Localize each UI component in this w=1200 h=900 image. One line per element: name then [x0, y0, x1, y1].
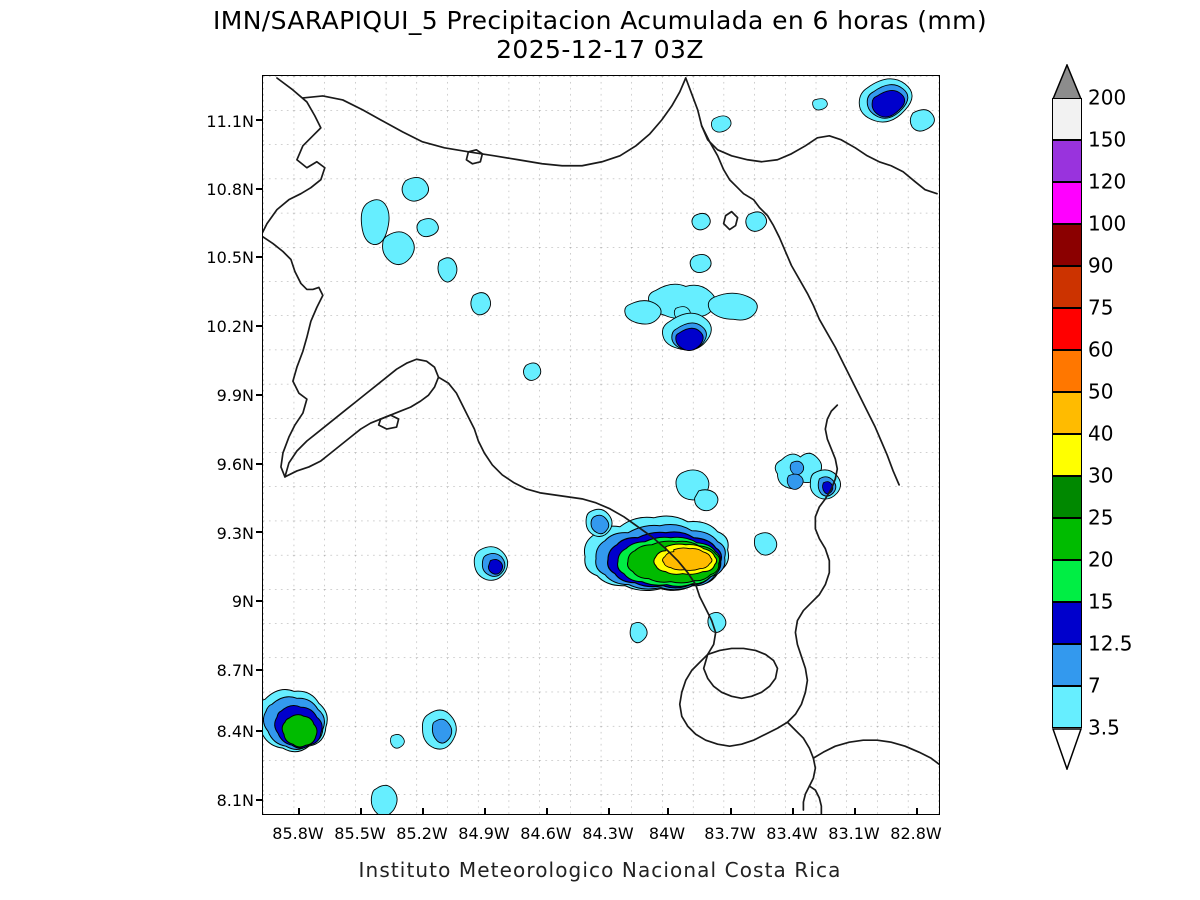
y-tick-label-8: 8.7N	[190, 661, 254, 680]
chart-title-block: IMN/SARAPIQUI_5 Precipitacion Acumulada …	[0, 6, 1200, 64]
colorbar-label-200: 200	[1088, 86, 1126, 110]
colorbar-label-20: 20	[1088, 548, 1113, 572]
x-tickmark-6	[667, 808, 669, 815]
colorbar-label-60: 60	[1088, 338, 1113, 362]
colorbar-label-50: 50	[1088, 380, 1113, 404]
colorbar-label-3.5: 3.5	[1088, 716, 1120, 740]
colorbar-label-12.5: 12.5	[1088, 632, 1133, 656]
y-tick-label-10: 8.1N	[190, 791, 254, 810]
y-tickmark-10	[256, 799, 263, 801]
y-tickmark-9	[256, 730, 263, 732]
x-tickmark-3	[484, 808, 486, 815]
y-tickmark-5	[256, 463, 263, 465]
colorbar-label-75: 75	[1088, 296, 1113, 320]
colorbar-label-90: 90	[1088, 254, 1113, 278]
colorbar-extend-min-arrow	[1052, 728, 1082, 770]
colorbar-label-25: 25	[1088, 506, 1113, 530]
page-title: IMN/SARAPIQUI_5 Precipitacion Acumulada …	[0, 6, 1200, 35]
x-tick-label-8: 83.4W	[766, 824, 817, 843]
footer-attribution: Instituto Meteorologico Nacional Costa R…	[0, 858, 1200, 882]
y-tickmark-2	[256, 256, 263, 258]
map-canvas	[263, 76, 939, 814]
colorbar-cell-150-200[interactable]	[1052, 98, 1082, 140]
x-tick-label-2: 85.2W	[396, 824, 447, 843]
colorbar-cell-7-12.5[interactable]	[1052, 644, 1082, 686]
y-tick-label-7: 9N	[190, 592, 254, 611]
y-tickmark-4	[256, 394, 263, 396]
x-tick-label-3: 84.9W	[458, 824, 509, 843]
x-tick-label-9: 83.1W	[828, 824, 879, 843]
x-tickmark-7	[730, 808, 732, 815]
map-plot-area[interactable]	[262, 75, 940, 815]
y-tickmark-7	[256, 600, 263, 602]
y-tickmark-1	[256, 188, 263, 190]
colorbar-cell-15-20[interactable]	[1052, 560, 1082, 602]
x-tick-label-6: 84W	[649, 824, 685, 843]
colorbar-label-120: 120	[1088, 170, 1126, 194]
map-gridlines	[263, 76, 939, 814]
x-tickmark-2	[422, 808, 424, 815]
colorbar-cell-120-150[interactable]	[1052, 140, 1082, 182]
x-tick-label-4: 84.6W	[520, 824, 571, 843]
y-tickmark-6	[256, 531, 263, 533]
colorbar-label-30: 30	[1088, 464, 1113, 488]
colorbar-cell-40-50[interactable]	[1052, 392, 1082, 434]
precip-cell-west-of-main	[586, 509, 612, 536]
x-tickmark-0	[298, 808, 300, 815]
colorbar-label-40: 40	[1088, 422, 1113, 446]
x-tick-label-1: 85.5W	[334, 824, 385, 843]
y-tick-label-6: 9.3N	[190, 524, 254, 543]
y-tickmark-3	[256, 325, 263, 327]
x-tickmark-9	[854, 808, 856, 815]
y-tickmark-8	[256, 669, 263, 671]
chart-subtitle: 2025-12-17 03Z	[0, 35, 1200, 64]
x-tickmark-8	[792, 808, 794, 815]
colorbar-cell-90-100[interactable]	[1052, 224, 1082, 266]
colorbar-cell-25-30[interactable]	[1052, 476, 1082, 518]
figure-root: IMN/SARAPIQUI_5 Precipitacion Acumulada …	[0, 0, 1200, 900]
colorbar-cell-3.5-7[interactable]	[1052, 686, 1082, 728]
colorbar-label-15: 15	[1088, 590, 1113, 614]
y-tick-label-2: 10.5N	[190, 248, 254, 267]
y-tick-label-0: 11.1N	[190, 112, 254, 131]
colorbar-cell-20-25[interactable]	[1052, 518, 1082, 560]
y-tick-label-9: 8.4N	[190, 722, 254, 741]
x-tick-label-5: 84.3W	[582, 824, 633, 843]
x-tickmark-10	[916, 808, 918, 815]
x-tick-label-0: 85.8W	[272, 824, 323, 843]
colorbar-cell-12.5-15[interactable]	[1052, 602, 1082, 644]
y-tick-label-1: 10.8N	[190, 180, 254, 199]
colorbar-cell-60-75[interactable]	[1052, 308, 1082, 350]
colorbar[interactable]: 200 150 120 100 90 75 60 50 40 30 25 20 …	[1052, 98, 1082, 812]
colorbar-cell-30-40[interactable]	[1052, 434, 1082, 476]
y-tick-label-3: 10.2N	[190, 317, 254, 336]
colorbar-cell-75-90[interactable]	[1052, 266, 1082, 308]
colorbar-cell-100-120[interactable]	[1052, 182, 1082, 224]
x-tickmark-5	[608, 808, 610, 815]
colorbar-label-100: 100	[1088, 212, 1126, 236]
y-tick-label-4: 9.9N	[190, 386, 254, 405]
x-tickmark-4	[546, 808, 548, 815]
colorbar-extend-max-arrow	[1052, 64, 1082, 100]
x-tick-label-7: 83.7W	[704, 824, 755, 843]
colorbar-label-7: 7	[1088, 674, 1101, 698]
colorbar-label-150: 150	[1088, 128, 1126, 152]
x-tick-label-10: 82.8W	[890, 824, 941, 843]
y-tick-label-5: 9.6N	[190, 455, 254, 474]
precip-cell-central-pacific	[474, 547, 507, 581]
y-tickmark-0	[256, 119, 263, 121]
colorbar-cell-50-60[interactable]	[1052, 350, 1082, 392]
x-tickmark-1	[360, 808, 362, 815]
